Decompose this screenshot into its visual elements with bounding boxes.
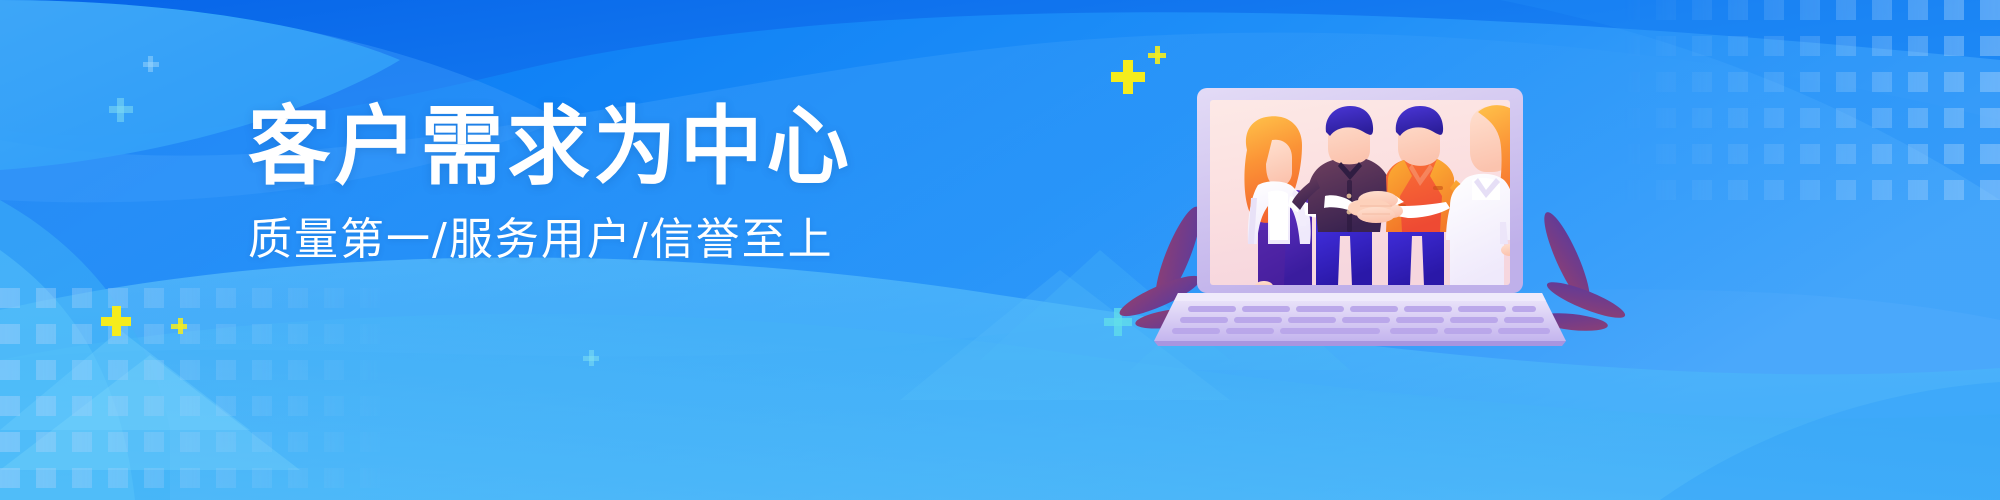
headline-block: 客户需求为中心 质量第一/服务用户/信誉至上: [248, 104, 868, 262]
page-subtitle: 质量第一/服务用户/信誉至上: [248, 218, 868, 262]
promo-banner: 客户需求为中心 质量第一/服务用户/信誉至上: [0, 0, 2000, 500]
page-title: 客户需求为中心: [248, 104, 843, 190]
dot-grid-bottom-left: [0, 280, 400, 500]
dot-grid-top-right: [1620, 0, 2000, 200]
